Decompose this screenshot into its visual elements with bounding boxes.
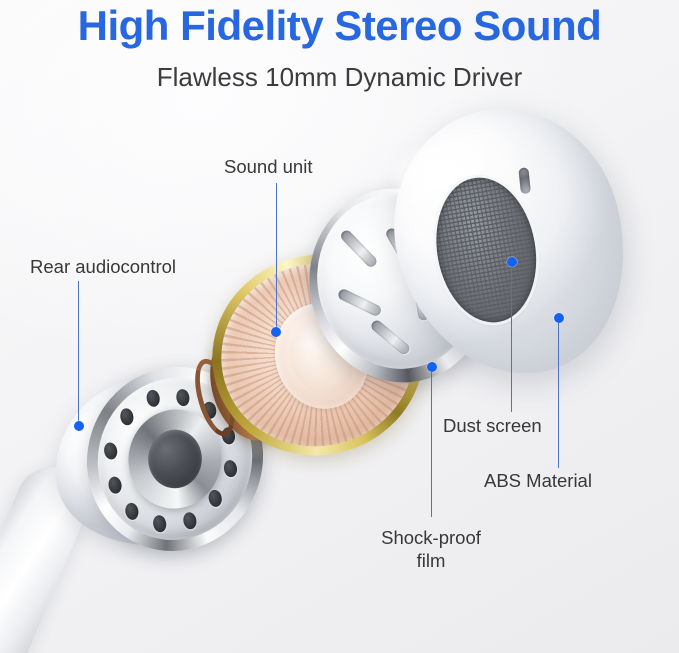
leader-line-sound-unit (276, 183, 277, 332)
callout-label-abs-material: ABS Material (484, 470, 592, 493)
callout-label-rear-audiocontrol: Rear audiocontrol (30, 256, 176, 279)
exploded-earbud-illustration (0, 0, 679, 653)
callout-label-shock-proof-film-line1: Shock-proof (361, 527, 501, 550)
shell-vent-slot (518, 167, 531, 194)
callout-label-shock-proof-film-line2: film (361, 550, 501, 573)
callout-label-shock-proof-film: Shock-proof film (361, 527, 501, 572)
callout-label-dust-screen: Dust screen (443, 415, 542, 438)
marker-dot-rear-audiocontrol (74, 421, 84, 431)
leader-line-dust-screen (511, 266, 512, 412)
film-slot (337, 287, 383, 317)
film-slot (369, 318, 411, 356)
marker-dot-sound-unit (271, 327, 281, 337)
leader-line-rear-audiocontrol (78, 281, 79, 427)
film-slot (339, 228, 379, 269)
leader-line-abs-material (558, 322, 559, 468)
leader-line-shock-proof-film (431, 371, 432, 517)
callout-label-sound-unit: Sound unit (224, 156, 312, 179)
product-infographic: High Fidelity Stereo Sound Flawless 10mm… (0, 0, 679, 653)
